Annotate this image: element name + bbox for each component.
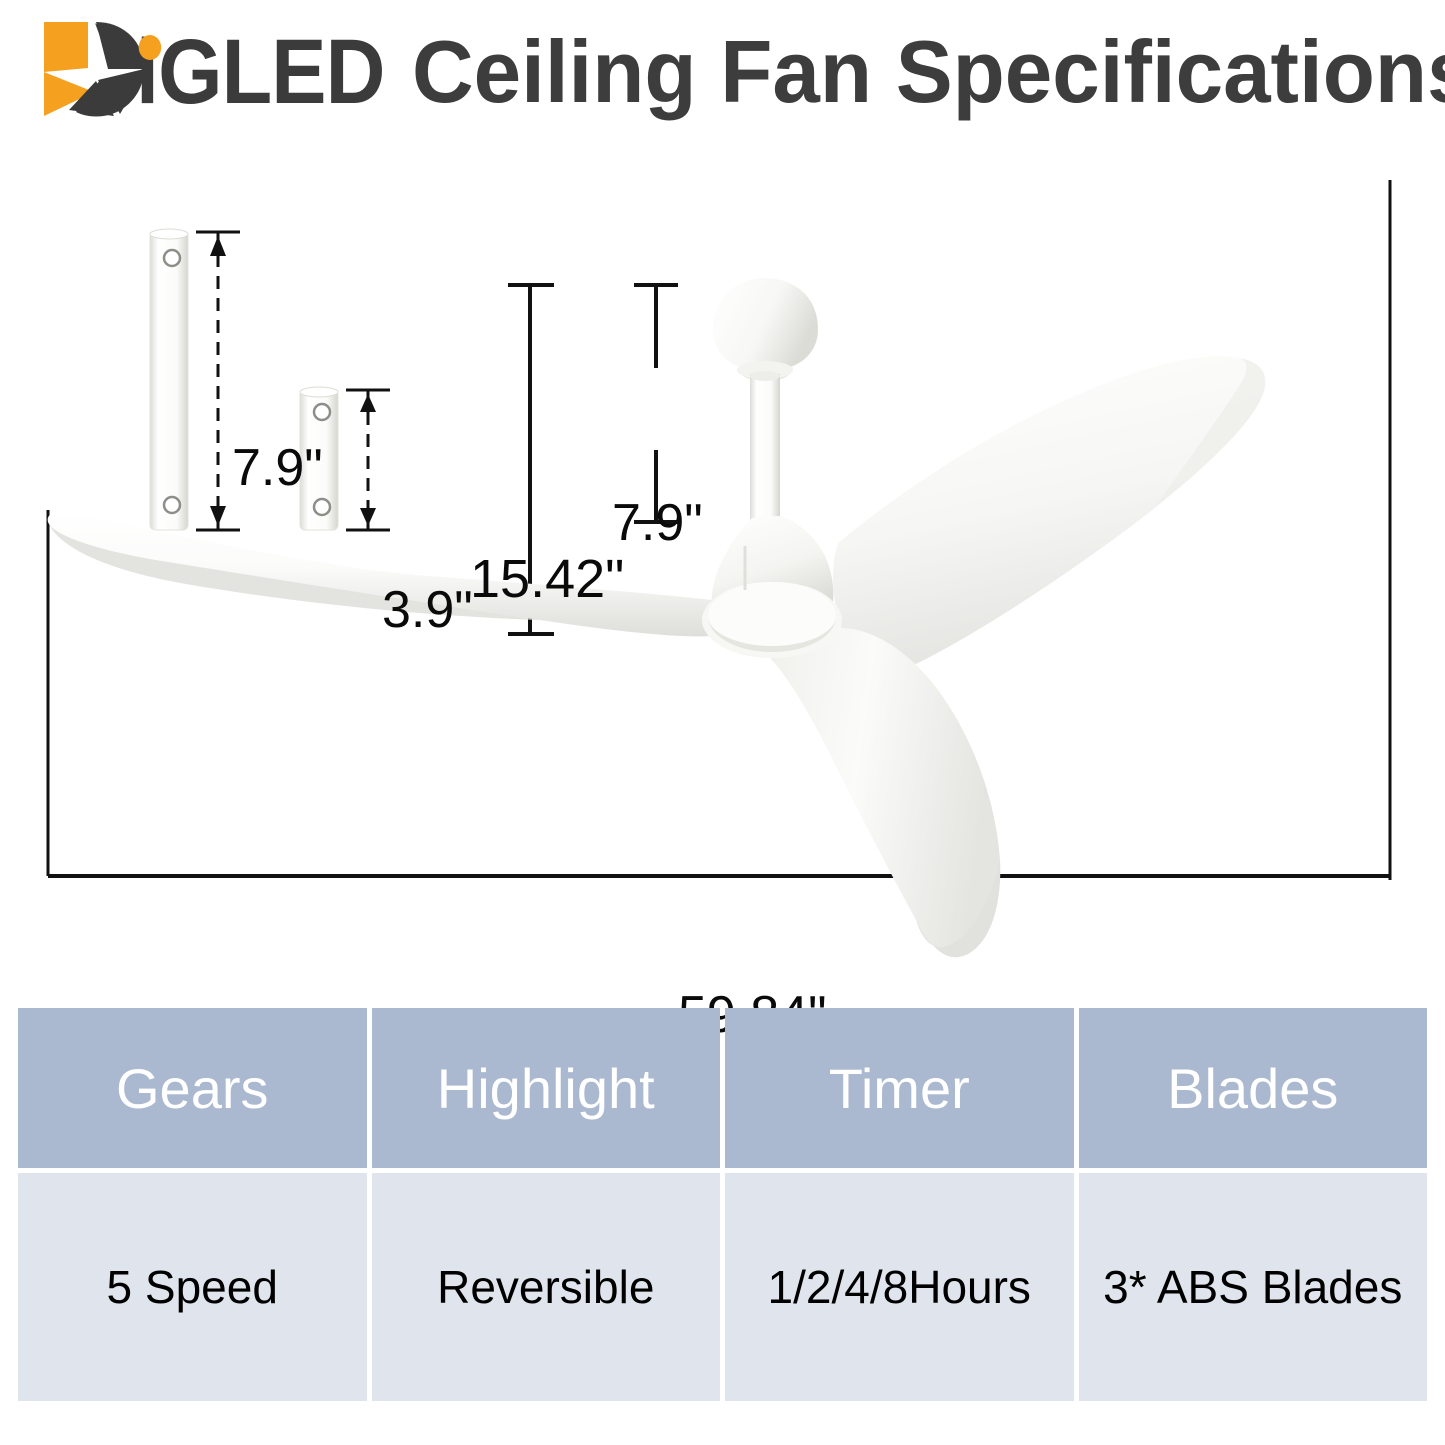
ceiling-canopy	[713, 278, 818, 381]
table-cell-highlight: Reversible	[372, 1173, 721, 1401]
table-header-highlight: Highlight	[372, 1008, 721, 1168]
table-header-gears: Gears	[18, 1008, 367, 1168]
table-cell-value: 1/2/4/8Hours	[768, 1260, 1031, 1314]
dimension-label-downrod-short: 3.9"	[382, 580, 473, 640]
table-cell-timer: 1/2/4/8Hours	[725, 1173, 1074, 1401]
fan-dimension-diagram: 7.9" 3.9" 15.42" 7.9" 59.84"	[0, 150, 1445, 990]
table-cell-value: Reversible	[437, 1260, 654, 1314]
canopy-drop-dimension	[634, 285, 678, 522]
fan-blade-lower-right	[768, 628, 1000, 957]
table-cell-blades: 3* ABS Blades	[1079, 1173, 1428, 1401]
brand-i-dot	[139, 35, 162, 60]
dimension-label-canopy-drop: 7.9"	[612, 493, 703, 553]
blade-span-extension-lines	[48, 180, 1390, 880]
fan-blade-upper-right	[833, 356, 1265, 671]
page-title: Ceiling Fan Specifications	[412, 22, 1445, 122]
short-downrod-dimension	[346, 390, 390, 530]
specifications-table: Gears Highlight Timer Blades 5 Speed Rev…	[18, 1008, 1427, 1401]
long-downrod	[150, 229, 188, 530]
dimension-label-total-drop: 15.42"	[470, 548, 624, 610]
table-header-label: Timer	[829, 1056, 970, 1121]
motor-hub-cap	[702, 582, 842, 658]
table-header-label: Blades	[1167, 1056, 1338, 1121]
brand-wordmark: iGLED	[136, 22, 385, 122]
table-header-blades: Blades	[1079, 1008, 1428, 1168]
brand-text: iGLED	[136, 21, 385, 123]
table-header-label: Highlight	[437, 1056, 655, 1121]
table-cell-value: 5 Speed	[107, 1260, 278, 1314]
table-header-label: Gears	[116, 1056, 269, 1121]
table-cell-value: 3* ABS Blades	[1103, 1260, 1402, 1314]
table-cell-gears: 5 Speed	[18, 1173, 367, 1401]
ceiling-fan-illustration	[48, 278, 1266, 957]
downrod	[750, 371, 780, 524]
table-header-timer: Timer	[725, 1008, 1074, 1168]
page-header: iGLED Ceiling Fan Specifications	[0, 0, 1445, 150]
dimension-label-downrod-long: 7.9"	[232, 438, 323, 498]
